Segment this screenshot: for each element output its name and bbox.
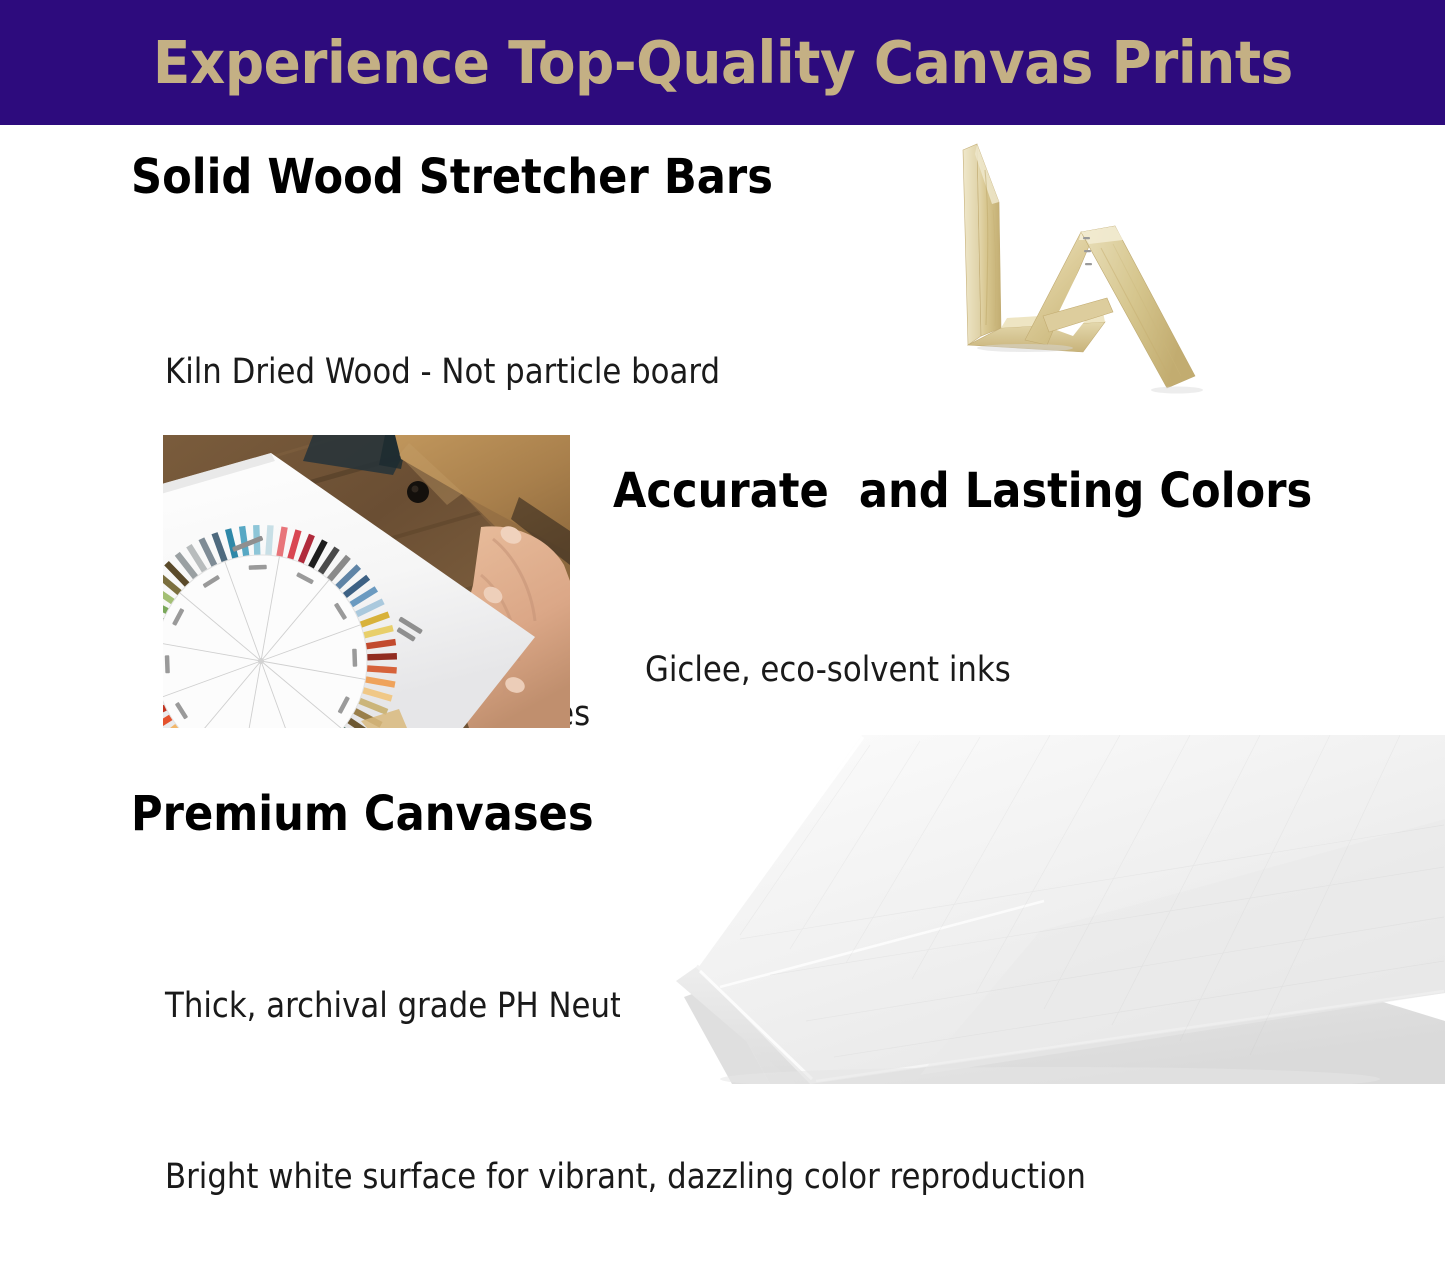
section-heading-canvases: Premium Canvases <box>131 789 594 839</box>
section-heading-stretcher-bars: Solid Wood Stretcher Bars <box>131 152 773 202</box>
bullet-list-canvases: Thick, archival grade PH Neutral - Won’t… <box>165 864 1086 1263</box>
wooden-stretcher-bars-photo <box>955 140 1225 408</box>
list-item: Bright white surface for vibrant, dazzli… <box>165 1149 1086 1206</box>
list-item: Giclee, eco-solvent inks <box>645 642 1188 699</box>
section-heading-colors: Accurate and Lasting Colors <box>613 466 1312 516</box>
list-item: Calibrated for color accuracy <box>645 813 1188 870</box>
page-title: Experience Top-Quality Canvas Prints <box>153 33 1293 92</box>
list-item: Kiln Dried Wood - Not particle board <box>165 344 720 401</box>
header-banner: Experience Top-Quality Canvas Prints <box>0 0 1445 125</box>
color-wheel-chart-photo <box>163 435 570 728</box>
list-item: Thick, archival grade PH Neutral - Won’t… <box>165 978 1086 1035</box>
